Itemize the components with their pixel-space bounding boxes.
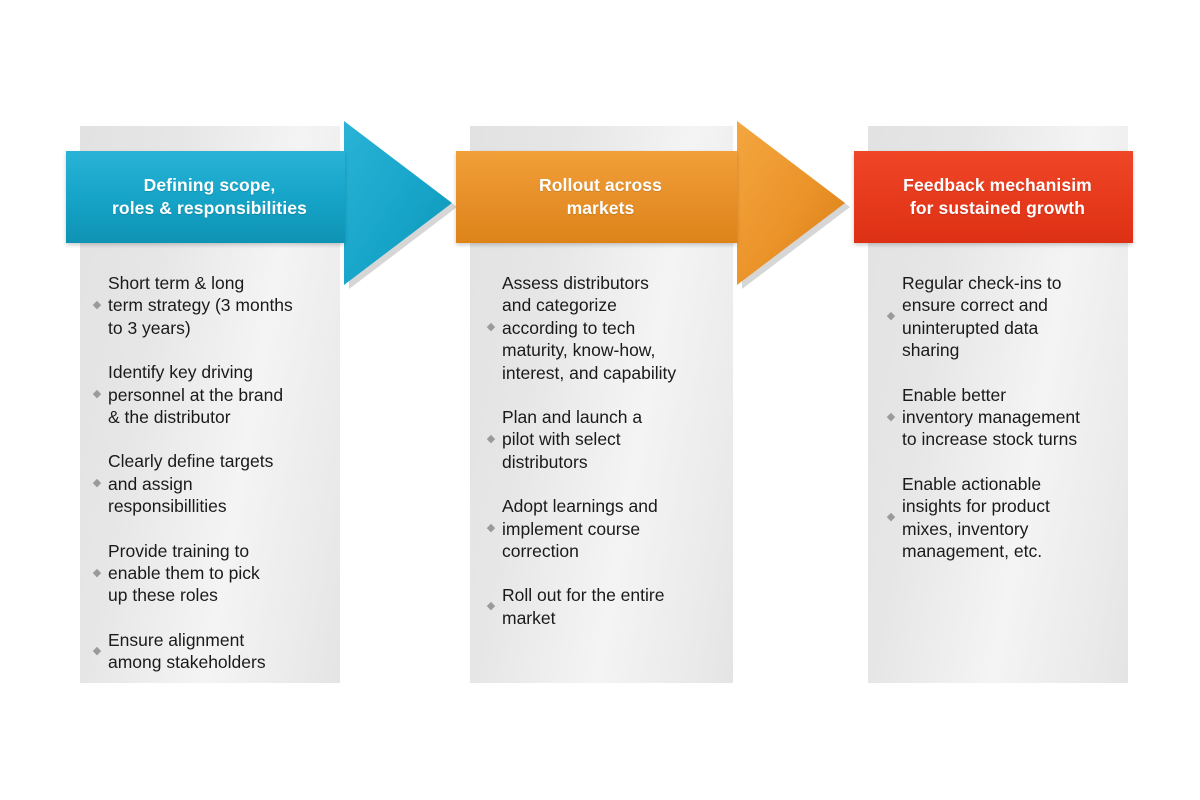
- diamond-bullet-icon: ◆: [88, 478, 106, 489]
- diamond-bullet-icon: ◆: [482, 322, 500, 333]
- diamond-bullet-icon: ◆: [482, 523, 500, 534]
- diamond-bullet-icon: ◆: [88, 300, 106, 311]
- list-item: ◆ Provide training to enable them to pic…: [88, 540, 340, 607]
- diamond-bullet-icon: ◆: [482, 434, 500, 445]
- list-item: ◆ Enable actionable insights for product…: [882, 473, 1134, 563]
- list-item-text: Assess distributors and categorize accor…: [502, 272, 734, 384]
- list-item-text: Enable actionable insights for product m…: [902, 473, 1134, 563]
- diamond-bullet-icon: ◆: [88, 568, 106, 579]
- list-item-text: Plan and launch a pilot with select dist…: [502, 406, 734, 473]
- list-item-text: Provide training to enable them to pick …: [108, 540, 340, 607]
- stage-1-title: Defining scope, roles & responsibilities: [112, 174, 307, 221]
- diamond-bullet-icon: ◆: [482, 601, 500, 612]
- list-item-text: Enable better inventory management to in…: [902, 384, 1134, 451]
- list-item: ◆ Ensure alignment among stakeholders: [88, 629, 340, 674]
- list-item: ◆ Short term & long term strategy (3 mon…: [88, 272, 340, 339]
- diamond-bullet-icon: ◆: [882, 412, 900, 423]
- list-item-text: Identify key driving personnel at the br…: [108, 361, 340, 428]
- stage-2-bullet-list: ◆ Assess distributors and categorize acc…: [482, 272, 734, 651]
- list-item: ◆ Clearly define targets and assign resp…: [88, 450, 340, 517]
- stage-1-banner[interactable]: Defining scope, roles & responsibilities: [66, 151, 345, 243]
- stage-3-title: Feedback mechanisim for sustained growth: [903, 174, 1092, 221]
- list-item-text: Regular check-ins to ensure correct and …: [902, 272, 1134, 362]
- stage-1-arrow-head-icon: [338, 113, 458, 293]
- diagram-canvas: Defining scope, roles & responsibilities…: [0, 0, 1200, 800]
- list-item-text: Short term & long term strategy (3 month…: [108, 272, 340, 339]
- list-item: ◆ Assess distributors and categorize acc…: [482, 272, 734, 384]
- list-item-text: Roll out for the entire market: [502, 584, 734, 629]
- diamond-bullet-icon: ◆: [882, 512, 900, 523]
- diamond-bullet-icon: ◆: [88, 646, 106, 657]
- list-item-text: Ensure alignment among stakeholders: [108, 629, 340, 674]
- stage-2-title: Rollout across markets: [539, 174, 662, 221]
- stage-3-banner[interactable]: Feedback mechanisim for sustained growth: [854, 151, 1133, 243]
- stage-2-banner[interactable]: Rollout across markets: [456, 151, 737, 243]
- diamond-bullet-icon: ◆: [882, 311, 900, 322]
- list-item: ◆ Regular check-ins to ensure correct an…: [882, 272, 1134, 362]
- list-item: ◆ Adopt learnings and implement course c…: [482, 495, 734, 562]
- list-item: ◆ Identify key driving personnel at the …: [88, 361, 340, 428]
- list-item-text: Clearly define targets and assign respon…: [108, 450, 340, 517]
- list-item: ◆ Roll out for the entire market: [482, 584, 734, 629]
- stage-1-bullet-list: ◆ Short term & long term strategy (3 mon…: [88, 272, 340, 695]
- stage-2-arrow-head-icon: [731, 113, 851, 293]
- diamond-bullet-icon: ◆: [88, 389, 106, 400]
- list-item: ◆ Plan and launch a pilot with select di…: [482, 406, 734, 473]
- list-item: ◆ Enable better inventory management to …: [882, 384, 1134, 451]
- stage-3-bullet-list: ◆ Regular check-ins to ensure correct an…: [882, 272, 1134, 584]
- list-item-text: Adopt learnings and implement course cor…: [502, 495, 734, 562]
